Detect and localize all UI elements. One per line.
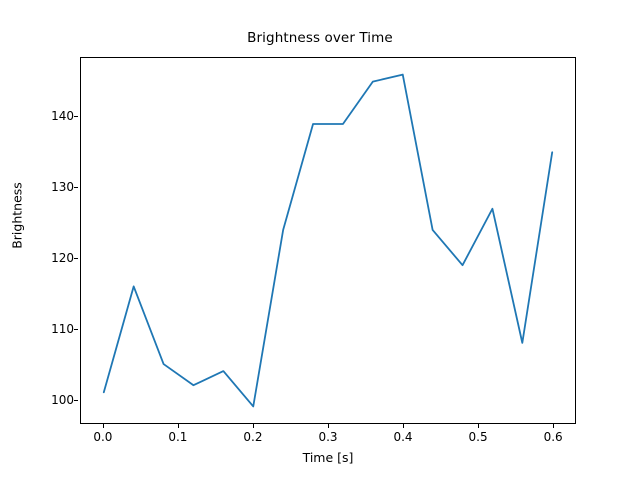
x-tick-mark [328,424,329,428]
x-tick-label: 0.3 [298,430,358,444]
chart-figure: Brightness over Time 100110120130140 0.0… [0,0,640,480]
y-tick-mark [74,187,78,188]
chart-title: Brightness over Time [0,30,640,46]
line-plot-svg [81,58,575,423]
data-series-brightness [104,75,552,407]
x-tick-mark [178,424,179,428]
x-tick-label: 0.0 [73,430,133,444]
x-tick-label: 0.1 [148,430,208,444]
x-tick-label: 0.2 [223,430,283,444]
y-tick-mark [74,116,78,117]
y-tick-label: 120 [28,251,74,265]
x-tick-mark [253,424,254,428]
y-tick-mark [74,400,78,401]
x-tick-mark [553,424,554,428]
y-tick-mark [74,329,78,330]
x-tick-mark [403,424,404,428]
plot-area [80,57,576,424]
y-tick-mark [74,258,78,259]
x-tick-label: 0.4 [373,430,433,444]
x-axis-tick-labels: 0.00.10.20.30.40.50.6 [0,430,640,450]
y-tick-label: 140 [28,109,74,123]
x-tick-mark [478,424,479,428]
x-tick-mark [103,424,104,428]
y-axis-tick-labels: 100110120130140 [22,57,74,424]
x-axis-label: Time [s] [80,450,576,465]
x-tick-label: 0.5 [448,430,508,444]
y-tick-label: 110 [28,322,74,336]
y-tick-label: 100 [28,393,74,407]
x-tick-label: 0.6 [523,430,583,444]
y-axis-label: Brightness [10,136,25,296]
y-tick-label: 130 [28,180,74,194]
